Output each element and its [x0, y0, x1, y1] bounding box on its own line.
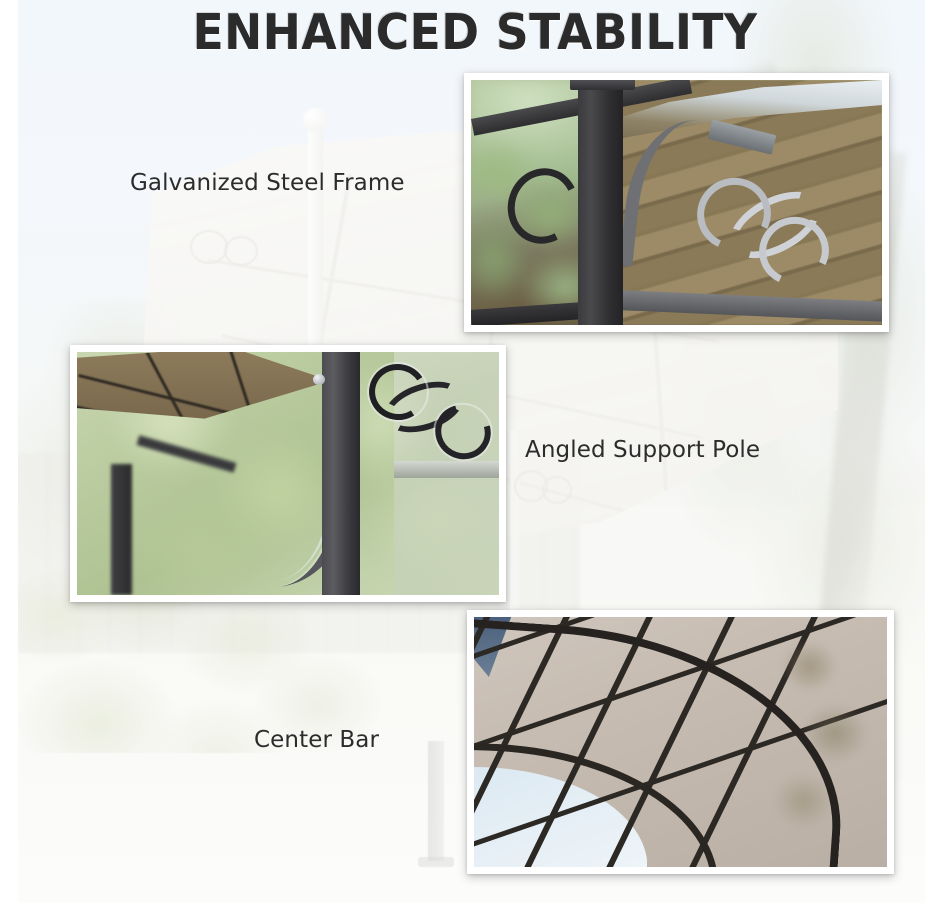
label-center-bar: Center Bar [254, 727, 379, 753]
photo-angled-support-pole-image [77, 352, 499, 595]
photo-galvanized-steel-frame-image [471, 80, 882, 325]
label-angled-support-pole: Angled Support Pole [525, 437, 760, 463]
page-title: ENHANCED STABILITY [33, 4, 917, 61]
photo-galvanized-steel-frame [464, 73, 889, 332]
photo-center-bar [467, 610, 894, 874]
infographic-canvas: ENHANCED STABILITY Galvanized Steel Fram… [0, 0, 950, 903]
photo-angled-support-pole [70, 345, 506, 602]
photo-center-bar-image [474, 617, 887, 867]
label-galvanized-steel-frame: Galvanized Steel Frame [130, 170, 405, 196]
